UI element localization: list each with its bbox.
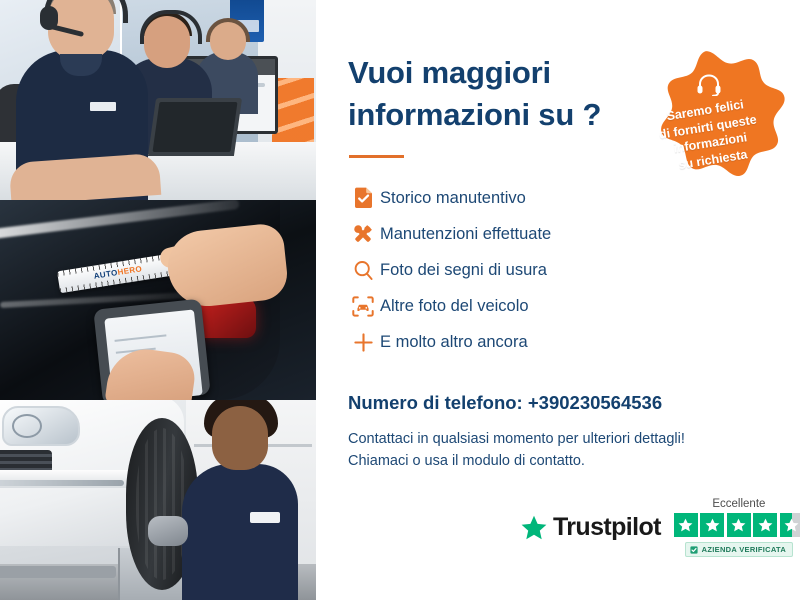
list-item: Storico manutentivo: [346, 180, 766, 216]
laptop: [148, 98, 242, 156]
mechanic-wheel-inspection-photo: [0, 400, 316, 600]
car-lift-arm: [0, 566, 116, 578]
trustpilot-star-icon: [520, 514, 548, 542]
star-half: [780, 513, 800, 537]
car-headlight: [2, 406, 80, 446]
title-underline: [349, 155, 404, 158]
list-item: Altre foto del veicolo: [346, 288, 766, 324]
list-item: Foto dei segni di usura: [346, 252, 766, 288]
trustpilot-rating-label: Eccellente: [712, 498, 765, 510]
star-filled: [753, 513, 777, 537]
star-filled: [674, 513, 698, 537]
trustpilot-widget[interactable]: Trustpilot Eccellente AZIENDA VERIFICA: [520, 498, 800, 557]
feature-label: E molto altro ancora: [380, 333, 528, 352]
contact-text-line-1: Contattaci in qualsiasi momento per ulte…: [348, 428, 768, 450]
feature-label: Storico manutentivo: [380, 189, 526, 208]
content-panel: Vuoi maggioriinformazioni su ? Saremo fe…: [316, 0, 800, 600]
car-scan-icon: [346, 293, 380, 319]
trustpilot-rating-block: Eccellente AZIENDA VERIFICATA: [674, 498, 800, 557]
verified-company-badge: AZIENDA VERIFICATA: [685, 542, 793, 557]
magnifier-icon: [346, 257, 380, 283]
feature-list: Storico manutentivo Manut: [346, 180, 766, 360]
page-title-line2: informazioni su ?: [348, 97, 601, 132]
list-item: E molto altro ancora: [346, 324, 766, 360]
phone-number-line: Numero di telefono: +390230564536: [348, 392, 662, 414]
autohero-ruler-inspection-photo: AUTOHERO: [0, 200, 316, 400]
contact-text-line-2: Chiamaci o usa il modulo di contatto.: [348, 450, 768, 472]
page-title-line1: Vuoi maggiori: [348, 55, 551, 90]
trustpilot-name: Trustpilot: [553, 513, 661, 542]
trustpilot-stars: [674, 513, 800, 537]
feature-label: Foto dei segni di usura: [380, 261, 547, 280]
feature-label: Altre foto del veicolo: [380, 297, 529, 316]
star-filled: [700, 513, 724, 537]
document-check-icon: [346, 185, 380, 211]
verified-label: AZIENDA VERIFICATA: [702, 545, 786, 554]
callout-badge: Saremo felici di fornirti queste informa…: [632, 48, 786, 202]
star-filled: [727, 513, 751, 537]
check-square-icon: [690, 546, 698, 554]
photo-column: AUTOHERO: [0, 0, 316, 600]
list-item: Manutenzioni effettuate: [346, 216, 766, 252]
page-title: Vuoi maggioriinformazioni su ?: [348, 52, 648, 136]
plus-icon: [346, 329, 380, 355]
mechanic: [182, 464, 298, 600]
promo-banner: AUTOHERO: [0, 0, 800, 600]
trustpilot-logo: Trustpilot: [520, 513, 661, 542]
mechanic-glove: [148, 516, 188, 546]
call-center-agents-photo: [0, 0, 316, 200]
wrench-screwdriver-icon: [346, 221, 380, 247]
feature-label: Manutenzioni effettuate: [380, 225, 551, 244]
